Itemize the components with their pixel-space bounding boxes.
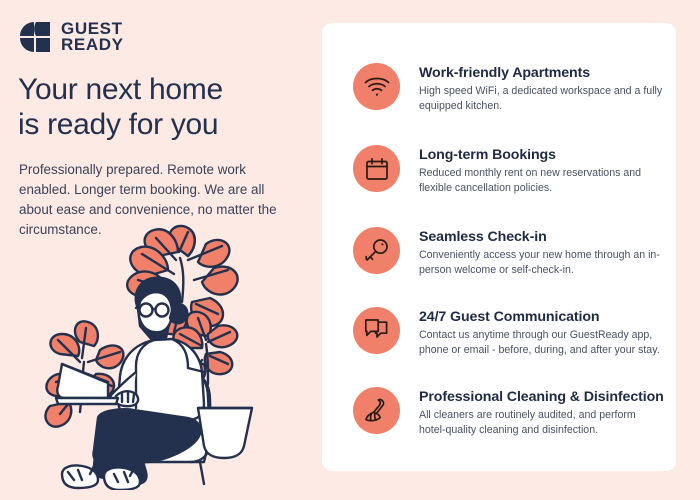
feature-title: Long-term Bookings <box>419 147 665 163</box>
feature-text: Professional Cleaning & Disinfection All… <box>400 387 665 438</box>
calendar-icon <box>353 145 400 192</box>
brand-wordmark: GUEST READY <box>61 21 124 54</box>
feature-title: Work-friendly Apartments <box>419 65 665 81</box>
brand-logo[interactable]: GUEST READY <box>18 20 124 54</box>
features-panel: Work-friendly Apartments High speed WiFi… <box>322 23 676 471</box>
feature-title: Seamless Check-in <box>419 229 665 245</box>
feature-text: 24/7 Guest Communication Contact us anyt… <box>400 307 665 358</box>
feature-description: Reduced monthly rent on new reservations… <box>419 166 665 195</box>
chat-bubbles-icon <box>353 307 400 354</box>
brand-name-line2: READY <box>61 37 124 53</box>
feature-text: Work-friendly Apartments High speed WiFi… <box>400 63 665 114</box>
hero-column: GUEST READY Your next home is ready for … <box>0 0 310 500</box>
wifi-icon <box>353 63 400 110</box>
feature-list: Work-friendly Apartments High speed WiFi… <box>322 23 676 471</box>
feature-title: Professional Cleaning & Disinfection <box>419 389 665 405</box>
feature-item-cleaning-disinfection[interactable]: Professional Cleaning & Disinfection All… <box>353 387 665 438</box>
woman-with-laptop-and-plants-illustration <box>38 222 310 490</box>
feature-description: Contact us anytime through our GuestRead… <box>419 328 665 357</box>
key-icon <box>353 227 400 274</box>
feature-description: Conveniently access your new home throug… <box>419 248 665 277</box>
page-title: Your next home is ready for you <box>18 72 304 142</box>
feature-description: High speed WiFi, a dedicated workspace a… <box>419 84 665 113</box>
feature-item-guest-communication[interactable]: 24/7 Guest Communication Contact us anyt… <box>353 307 665 358</box>
infographic-canvas: GUEST READY Your next home is ready for … <box>0 0 700 500</box>
feature-item-work-friendly-apartments[interactable]: Work-friendly Apartments High speed WiFi… <box>353 63 665 114</box>
feature-text: Long-term Bookings Reduced monthly rent … <box>400 145 665 196</box>
feature-title: 24/7 Guest Communication <box>419 309 665 325</box>
feature-text: Seamless Check-in Conveniently access yo… <box>400 227 665 278</box>
feature-item-seamless-check-in[interactable]: Seamless Check-in Conveniently access yo… <box>353 227 665 278</box>
feature-item-long-term-bookings[interactable]: Long-term Bookings Reduced monthly rent … <box>353 145 665 196</box>
guestready-squares-icon <box>18 20 52 54</box>
feature-description: All cleaners are routinely audited, and … <box>419 408 665 437</box>
broom-icon <box>353 387 400 434</box>
